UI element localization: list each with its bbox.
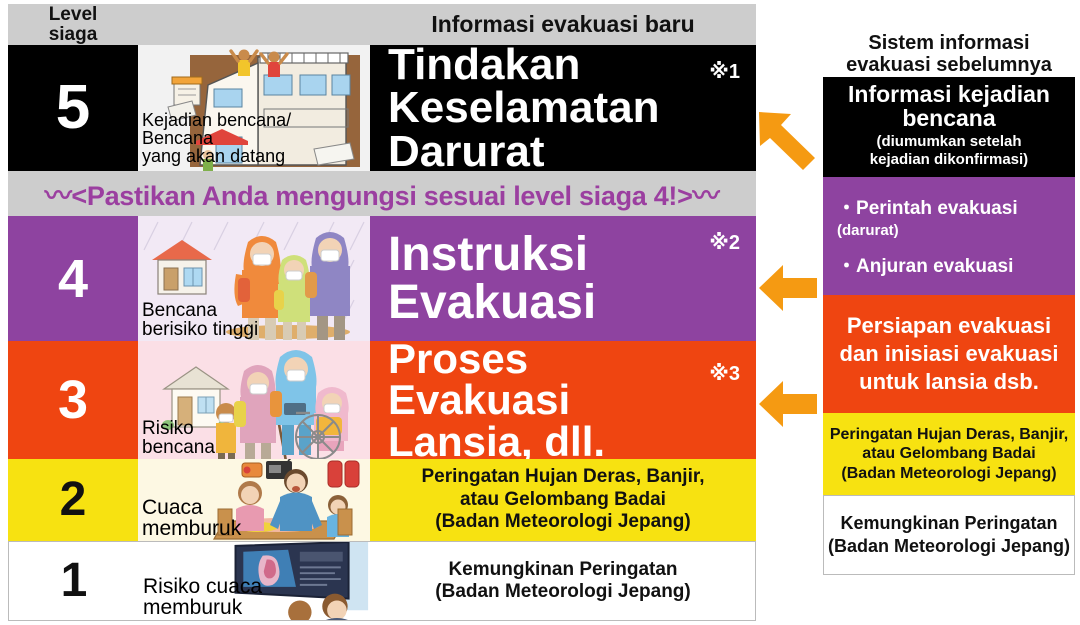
alert-level-table: Level siaga Informasi evakuasi baru 5 <box>8 4 756 621</box>
level-1-situation-cell: Risiko cuaca memburuk <box>139 542 371 620</box>
previous-box-weather-warning-text: Peringatan Hujan Deras, Banjir, atau Gel… <box>830 425 1068 484</box>
bullet-icon: ・ <box>837 198 856 219</box>
previous-box-elderly-evacuation-text: Persiapan evakuasi dan inisiasi evakuasi… <box>840 312 1059 396</box>
table-header-row: Level siaga Informasi evakuasi baru <box>8 4 756 45</box>
list-item-suffix: (darurat) <box>837 222 899 239</box>
level-3-situation-text: Risiko bencana <box>142 419 215 457</box>
previous-system-column: Sistem informasi evakuasi sebelumnya Inf… <box>823 4 1075 575</box>
level-5-number-cell: 5 <box>8 45 138 171</box>
level-2-situation-cell: Cuaca memburuk <box>138 459 370 541</box>
level-5-info-text: Tindakan Keselamatan Darurat <box>370 43 659 172</box>
level-1-number-cell: 1 <box>9 542 139 620</box>
list-item: ・Perintah evakuasi (darurat) <box>837 199 1065 241</box>
bullet-icon: ・ <box>837 256 856 277</box>
table-row-level-4: 4 <box>8 216 756 341</box>
level-2-number-cell: 2 <box>8 459 138 541</box>
level-2-situation-text: Cuaca memburuk <box>142 497 241 539</box>
evacuation-banner: 〰<Pastikan Anda mengungsi sesuai level s… <box>8 171 756 216</box>
level-3-info-cell: Proses Evakuasi Lansia, dll. ※3 <box>370 341 756 459</box>
table-row-level-1: 1 <box>8 541 756 621</box>
level-1-info-text: Kemungkinan Peringatan (Badan Meteorolog… <box>435 559 690 604</box>
level-3-number-cell: 3 <box>8 341 138 459</box>
level-number: 4 <box>58 252 88 306</box>
arrow-diagonal-up-left-icon <box>757 108 819 174</box>
list-item: ・Anjuran evakuasi <box>837 257 1013 278</box>
level-number: 2 <box>60 476 87 524</box>
header-situation-spacer <box>138 4 370 45</box>
header-level-label: Level siaga <box>8 4 138 45</box>
level-5-note: ※1 <box>709 59 740 84</box>
level-3-info-text: Proses Evakuasi Lansia, dll. <box>370 338 605 461</box>
list-item-label: Perintah evakuasi <box>856 198 1018 219</box>
table-row-level-2: 2 <box>8 459 756 541</box>
previous-box-disaster-info-title: Informasi kejadian bencana <box>848 83 1050 130</box>
level-5-info-cell: Tindakan Keselamatan Darurat ※1 <box>370 45 756 171</box>
header-info-label: Informasi evakuasi baru <box>370 4 756 45</box>
level-4-info-text: Instruksi Evakuasi <box>370 231 596 325</box>
level-2-info-text: Peringatan Hujan Deras, Banjir, atau Gel… <box>422 466 705 533</box>
previous-system-title: Sistem informasi evakuasi sebelumnya <box>823 4 1075 77</box>
level-3-situation-cell: Risiko bencana <box>138 341 370 459</box>
arrow-left-level3-icon <box>757 378 819 430</box>
level-1-situation-text: Risiko cuaca memburuk <box>143 576 262 618</box>
previous-box-weather-advisory-text: Kemungkinan Peringatan (Badan Meteorolog… <box>828 512 1070 558</box>
previous-box-disaster-info: Informasi kejadian bencana (diumumkan se… <box>823 77 1075 177</box>
previous-box-elderly-evacuation: Persiapan evakuasi dan inisiasi evakuasi… <box>823 295 1075 413</box>
evacuation-alert-level-chart: Level siaga Informasi evakuasi baru 5 <box>0 0 1080 625</box>
previous-box-weather-advisory: Kemungkinan Peringatan (Badan Meteorolog… <box>823 495 1075 575</box>
level-5-situation-text: Kejadian bencana/ Bencana yang akan data… <box>142 111 291 165</box>
banner-text: 〰<Pastikan Anda mengungsi sesuai level s… <box>45 174 720 213</box>
arrow-left-level4-icon <box>757 262 819 314</box>
level-4-info-cell: Instruksi Evakuasi ※2 <box>370 216 756 341</box>
table-row-level-5: 5 <box>8 45 756 171</box>
level-4-situation-cell: Bencana berisiko tinggi <box>138 216 370 341</box>
list-item-label: Anjuran evakuasi <box>856 256 1013 277</box>
table-row-level-3: 3 <box>8 341 756 459</box>
level-number: 3 <box>58 373 88 427</box>
previous-box-disaster-info-subtitle: (diumumkan setelah kejadian dikonfirmasi… <box>870 133 1028 171</box>
level-4-number-cell: 4 <box>8 216 138 341</box>
level-2-info-cell: Peringatan Hujan Deras, Banjir, atau Gel… <box>370 459 756 541</box>
level-4-note: ※2 <box>709 230 740 255</box>
level-4-situation-text: Bencana berisiko tinggi <box>142 301 258 339</box>
level-3-note: ※3 <box>709 361 740 386</box>
level-1-info-cell: Kemungkinan Peringatan (Badan Meteorolog… <box>371 542 755 620</box>
level-number: 1 <box>61 557 88 605</box>
previous-box-weather-warning: Peringatan Hujan Deras, Banjir, atau Gel… <box>823 413 1075 495</box>
level-number: 5 <box>56 77 90 139</box>
level-5-situation-cell: Kejadian bencana/ Bencana yang akan data… <box>138 45 370 171</box>
previous-box-evacuation-orders: ・Perintah evakuasi (darurat) ・Anjuran ev… <box>823 177 1075 295</box>
